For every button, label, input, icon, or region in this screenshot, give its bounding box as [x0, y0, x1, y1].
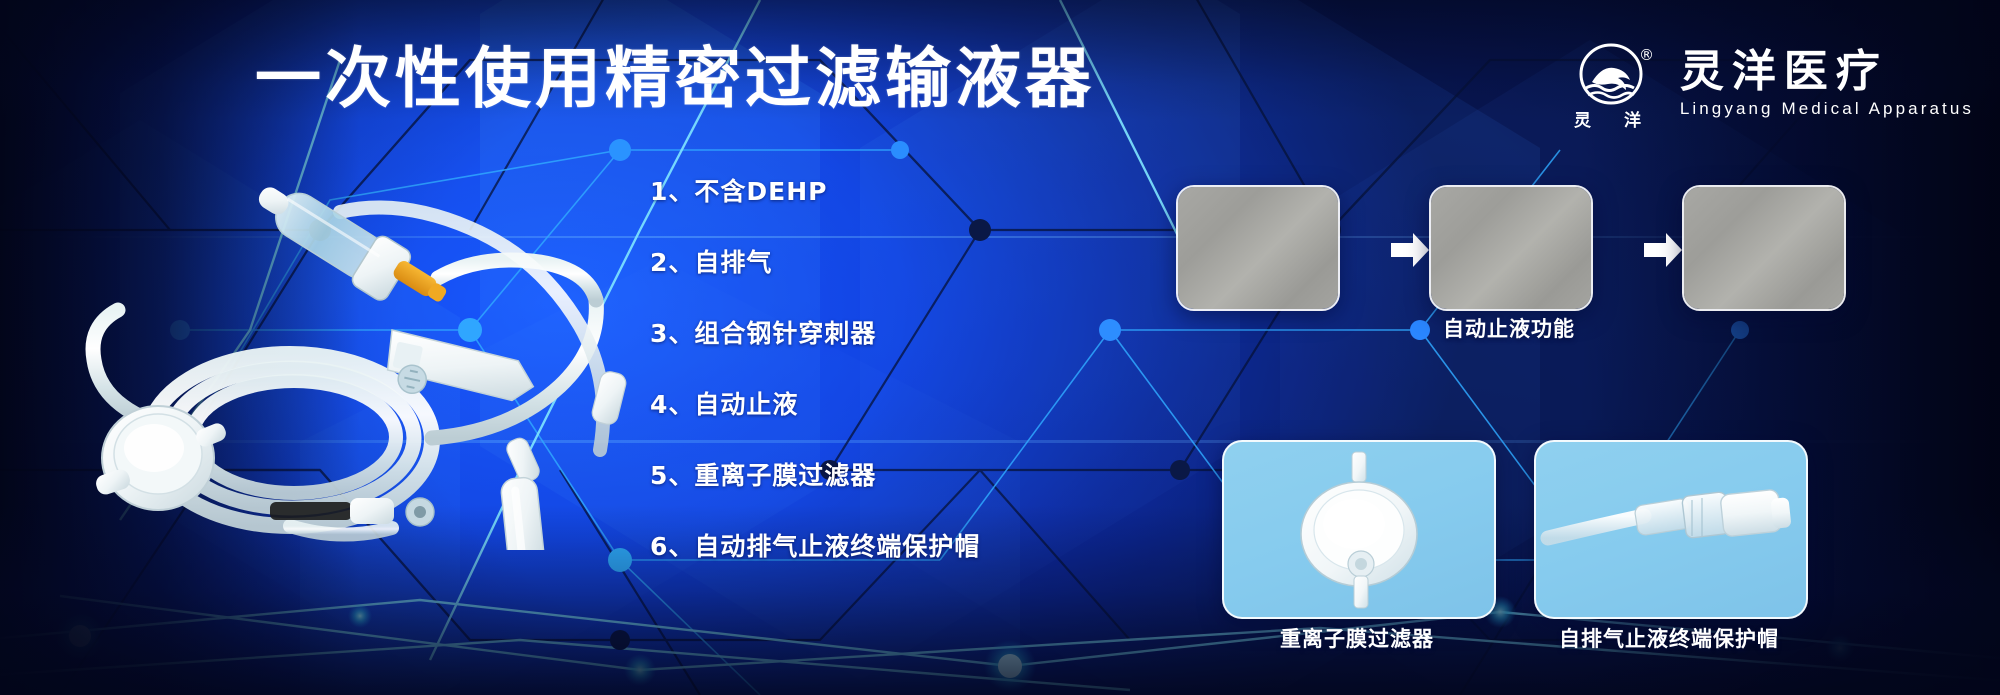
- product-detail-caption: 自排气止液终端保护帽: [1534, 623, 1804, 653]
- lingyang-logo-icon: ® 灵 洋: [1570, 38, 1658, 130]
- right-arrow-icon: [1640, 228, 1684, 272]
- brand-name-en: Lingyang Medical Apparatus: [1680, 99, 1974, 119]
- product-photo: [40, 150, 680, 550]
- feature-item: 5、重离子膜过滤器: [650, 456, 990, 492]
- svg-text:洋: 洋: [1624, 110, 1641, 130]
- product-detail-panel: [1534, 440, 1808, 619]
- product-detail-caption: 重离子膜过滤器: [1222, 623, 1492, 653]
- brand-name-cn: 灵洋医疗: [1680, 49, 1888, 95]
- demo-photo-panel: [1682, 185, 1846, 311]
- demo-top-caption: 自动止液功能: [1176, 313, 1842, 343]
- feature-item: 4、自动止液: [650, 385, 990, 421]
- product-detail-panel: [1222, 440, 1496, 619]
- svg-text:灵: 灵: [1574, 111, 1592, 130]
- demo-photo-panel: [1429, 185, 1593, 311]
- feature-item: 1、不含DEHP: [650, 172, 990, 208]
- svg-text:®: ®: [1639, 46, 1654, 64]
- feature-item: 2、自排气: [650, 243, 990, 279]
- right-arrow-icon: [1387, 228, 1431, 272]
- banner-root: 一次性使用精密过滤输液器 ® 灵 洋 灵洋医疗 Lingyang Medical…: [0, 0, 2000, 695]
- feature-item: 6、自动排气止液终端保护帽: [650, 527, 990, 563]
- feature-item: 3、组合钢针穿刺器: [650, 314, 990, 350]
- page-title: 一次性使用精密过滤输液器: [255, 46, 1095, 112]
- brand-lockup: ® 灵 洋 灵洋医疗 Lingyang Medical Apparatus: [1570, 38, 1974, 130]
- brand-text-block: 灵洋医疗 Lingyang Medical Apparatus: [1680, 49, 1974, 118]
- feature-list: 1、不含DEHP 2、自排气 3、组合钢针穿刺器 4、自动止液 5、重离子膜过滤…: [650, 172, 990, 563]
- demo-photo-panel: [1176, 185, 1340, 311]
